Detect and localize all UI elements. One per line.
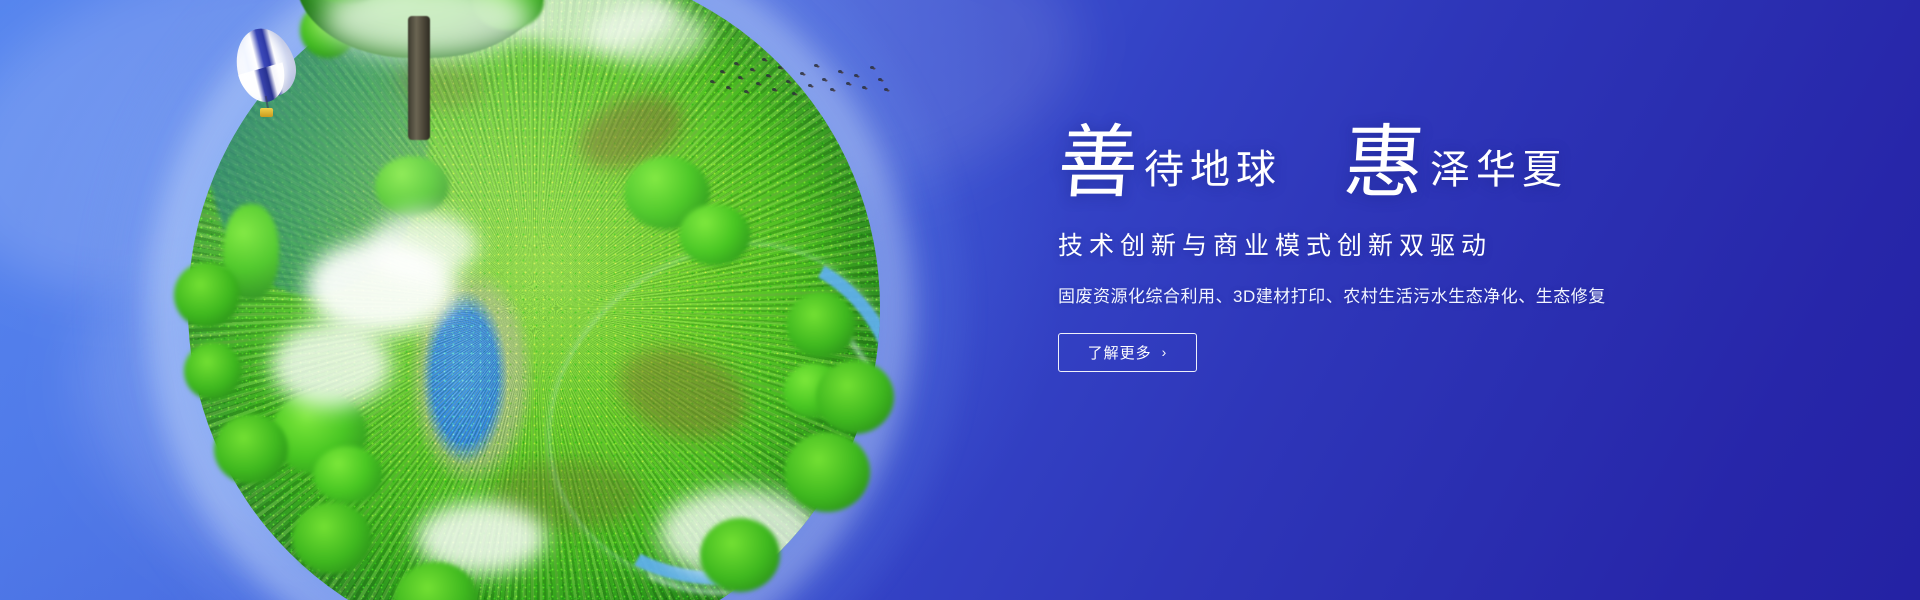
headline-small-text-2: 泽华夏 [1430,150,1568,202]
terrain-patch [568,82,694,183]
rim-tree [184,342,242,400]
page-title: 善 待地球 惠 泽华夏 [1058,128,1698,202]
headline-big-char-1: 善 [1055,128,1140,202]
learn-more-button[interactable]: 了解更多 › [1058,333,1197,372]
cloud [306,239,456,335]
chevron-right-icon: › [1162,345,1168,359]
hero-banner: 善 待地球 惠 泽华夏 技术创新与商业模式创新双驱动 固废资源化综合利用、3D建… [0,0,1920,600]
headline-small-text-1: 待地球 [1144,150,1282,202]
headline-phrase-two: 惠 泽华夏 [1344,128,1568,202]
forest-blob [624,156,710,230]
forest-blob [375,156,449,216]
rim-tree [174,262,240,328]
terrain-patch [492,460,642,530]
subtitle: 技术创新与商业模式创新双驱动 [1058,226,1698,262]
rim-tree [816,360,894,434]
headline-big-char-2: 惠 [1341,128,1426,202]
tree-trunk [408,16,430,140]
cloud [368,211,478,281]
learn-more-label: 了解更多 [1088,342,1152,363]
hero-content: 善 待地球 惠 泽华夏 技术创新与商业模式创新双驱动 固废资源化综合利用、3D建… [1058,128,1698,372]
hot-air-balloon-icon [236,28,294,120]
forest-blob [313,446,383,504]
rim-tree [214,414,288,484]
description-text: 固废资源化综合利用、3D建材打印、农村生活污水生态净化、生态修复 [1058,282,1698,307]
forest-blob [679,204,751,266]
rim-tree [786,292,856,358]
terrain-patch [607,331,759,454]
flock-of-birds-icon [708,52,888,98]
forest-blob [271,391,367,475]
cloud [271,322,391,408]
cloud [589,4,709,64]
hero-tree-icon [296,0,546,138]
headline-phrase-one: 善 待地球 [1058,128,1282,202]
balloon-basket [260,108,273,117]
rim-tree [292,502,372,574]
rim-tree [784,432,870,512]
rim-tree [700,518,780,592]
